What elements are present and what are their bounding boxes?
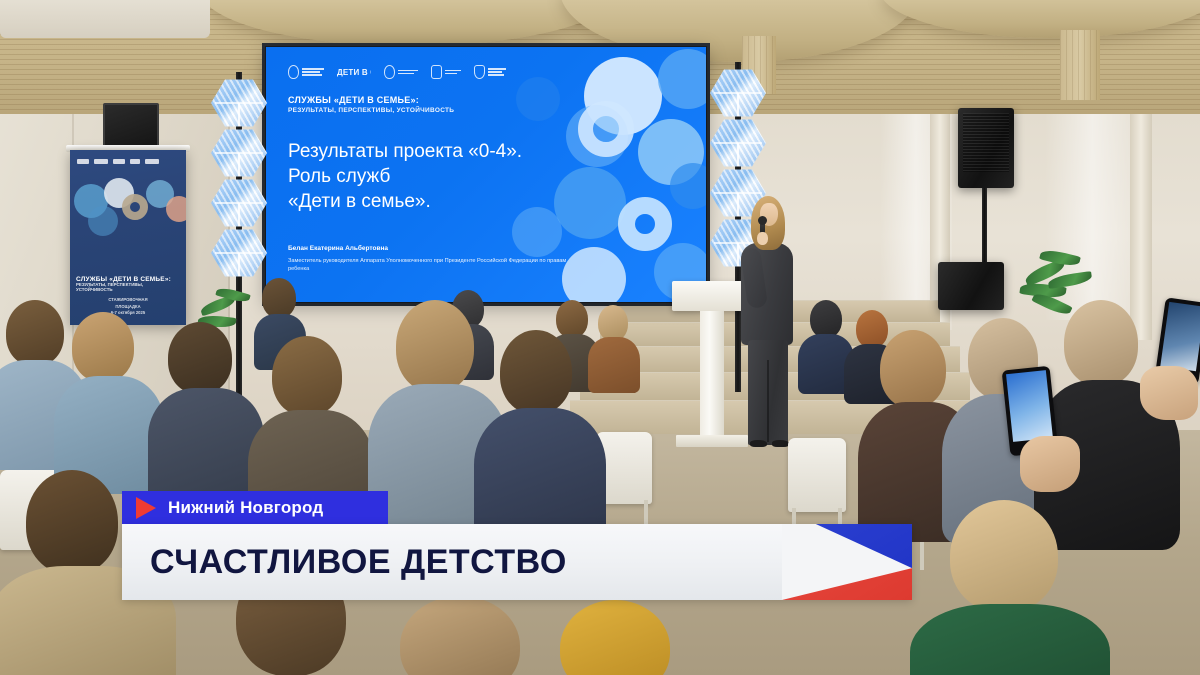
- pa-speaker: [958, 108, 1014, 188]
- slide-title-line-1: Результаты проекта «0-4».: [288, 139, 578, 164]
- rollup-banner: СЛУЖБЫ «ДЕТИ В СЕМЬЕ»: РЕЗУЛЬТАТЫ, ПЕРСП…: [70, 150, 186, 325]
- deco-circle: [516, 77, 560, 121]
- deco-ring: [578, 101, 634, 157]
- logo-text-lines: [445, 70, 461, 75]
- partner-logo: [384, 65, 418, 79]
- location-banner: Нижний Новгород: [122, 491, 388, 524]
- deco-circle: [512, 207, 562, 257]
- deco-circle: [166, 196, 186, 222]
- partner-logo: [431, 65, 461, 79]
- slide-subtitle: РЕЗУЛЬТАТЫ, ПЕРСПЕКТИВЫ, УСТОЙЧИВОСТЬ: [288, 107, 454, 114]
- play-triangle-icon: [136, 497, 156, 519]
- partner-logo: [288, 65, 324, 79]
- ceiling-column: [1060, 30, 1100, 100]
- slide-title-line-2: Роль служб: [288, 164, 578, 189]
- wall-monitor: [103, 103, 159, 151]
- podium-column: [700, 311, 724, 439]
- emblem-icon: [431, 65, 442, 79]
- location-label: Нижний Новгород: [168, 498, 323, 518]
- rollup-subtitle: РЕЗУЛЬТАТЫ, ПЕРСПЕКТИВЫ, УСТОЙЧИВОСТЬ: [76, 282, 180, 292]
- deco-ring: [122, 194, 148, 220]
- russian-tricolor-icon: [782, 524, 912, 600]
- microphone-head: [758, 216, 767, 225]
- phone-screen: [1160, 302, 1200, 371]
- slide-speaker-role: Заместитель руководителя Аппарата Уполно…: [288, 257, 568, 274]
- shield-icon: [474, 65, 485, 79]
- subwoofer: [938, 262, 1004, 310]
- rollup-footer-line-1: СТАЖИРОВОЧНАЯ: [70, 297, 186, 304]
- rollup-footer: СТАЖИРОВОЧНАЯ ПЛОЩАДКА 6-7 октября 2025: [70, 297, 186, 317]
- phone-screen: [1006, 370, 1053, 442]
- presenter-shoe: [772, 440, 789, 447]
- deco-circle: [562, 247, 626, 302]
- logo-text-lines: [398, 70, 418, 75]
- emblem-icon: [384, 65, 395, 79]
- podium-top: [672, 281, 752, 311]
- ceiling-recess: [0, 0, 210, 38]
- deco-ring: [618, 197, 672, 251]
- partner-logo-word: ДЕТИ В СЕМЬЕ: [337, 68, 371, 77]
- slide-kicker: СЛУЖБЫ «ДЕТИ В СЕМЬЕ»:: [288, 95, 419, 105]
- presenter-shoe: [750, 440, 767, 447]
- chair: [788, 438, 846, 512]
- slide-title-line-3: «Дети в семье».: [288, 189, 578, 214]
- emblem-icon: [288, 65, 299, 79]
- slide-title: Результаты проекта «0-4». Роль служб «Де…: [288, 139, 578, 214]
- deco-circle: [88, 206, 118, 236]
- podium-base: [676, 435, 748, 447]
- presentation-screen: ДЕТИ В СЕМЬЕ СЛУЖБЫ «ДЕТИ В СЕМЬЕ»: РЕЗУ…: [266, 47, 706, 302]
- logo-text-lines: [488, 68, 506, 76]
- hand-holding-phone: [1020, 436, 1080, 492]
- logo-text-lines: [302, 68, 324, 76]
- broadcast-frame: ДЕТИ В СЕМЬЕ СЛУЖБЫ «ДЕТИ В СЕМЬЕ»: РЕЗУ…: [0, 0, 1200, 675]
- rollup-footer-line-2: ПЛОЩАДКА: [70, 304, 186, 311]
- hand-holding-phone: [1140, 366, 1198, 420]
- headline-text: СЧАСТЛИВОЕ ДЕТСТВО: [150, 543, 567, 582]
- partner-logo: [474, 65, 506, 79]
- rollup-partner-logos: [77, 159, 159, 164]
- partner-logo: ДЕТИ В СЕМЬЕ: [337, 68, 371, 77]
- deco-circle: [670, 163, 706, 209]
- slide-speaker-name: Белан Екатерина Альбертовна: [288, 245, 388, 252]
- slide-partner-logos: ДЕТИ В СЕМЬЕ: [288, 65, 506, 79]
- presenter-leg-split: [767, 360, 769, 442]
- presenter-hand: [757, 232, 768, 245]
- speaker-grill: [963, 113, 1009, 172]
- deco-circle: [658, 49, 706, 109]
